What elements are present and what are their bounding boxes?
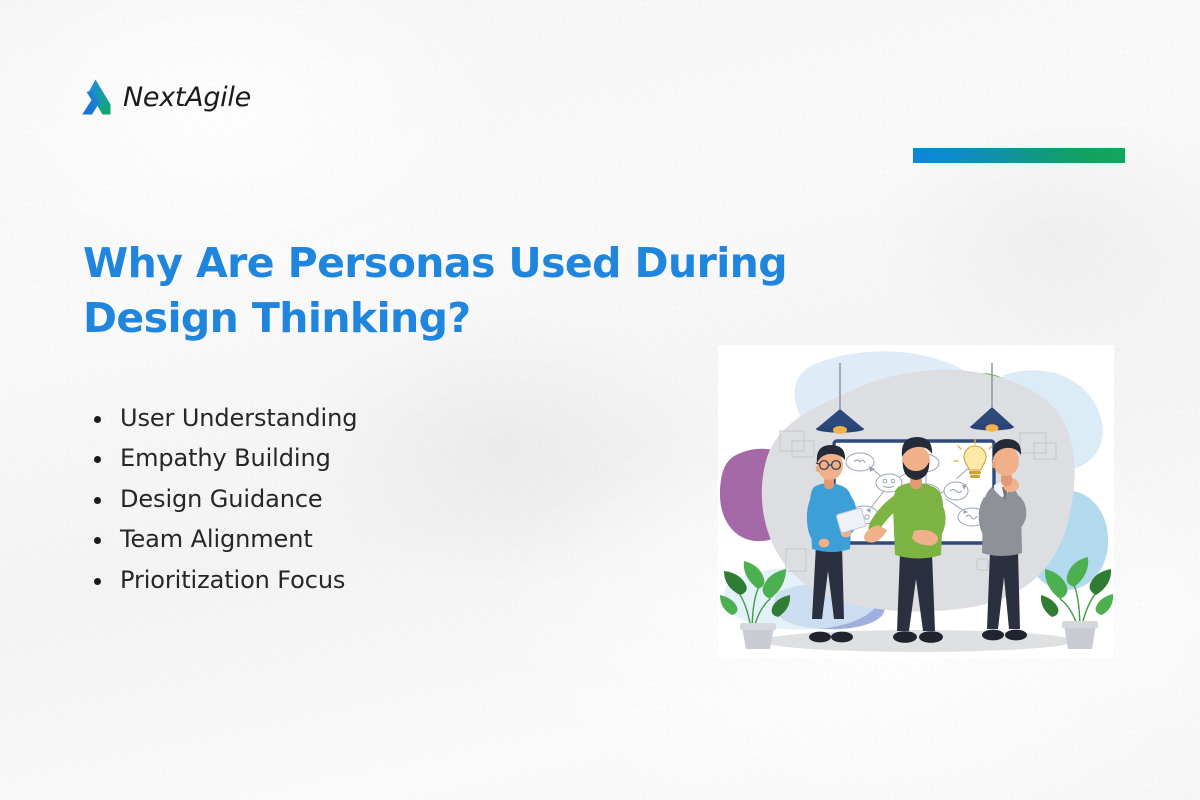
nextagile-a-mark-icon <box>80 78 114 116</box>
floor-shadow <box>762 630 1074 652</box>
illustration-svg <box>718 345 1114 658</box>
brand-wordmark: NextAgile <box>123 84 251 111</box>
list-item: Prioritization Focus <box>84 560 357 600</box>
accent-gradient-bar <box>913 148 1125 163</box>
brand-logo[interactable]: NextAgile <box>80 78 251 116</box>
list-item: Design Guidance <box>84 479 357 519</box>
list-item: Team Alignment <box>84 519 357 559</box>
page-title: Why Are Personas Used During Design Thin… <box>83 236 843 345</box>
slide-canvas: NextAgile Why Are Personas Used During D… <box>0 0 1200 800</box>
benefits-list: User Understanding Empathy Building Desi… <box>84 398 357 600</box>
list-item: User Understanding <box>84 398 357 438</box>
list-item: Empathy Building <box>84 438 357 478</box>
team-design-thinking-whiteboard-illustration <box>718 345 1114 658</box>
